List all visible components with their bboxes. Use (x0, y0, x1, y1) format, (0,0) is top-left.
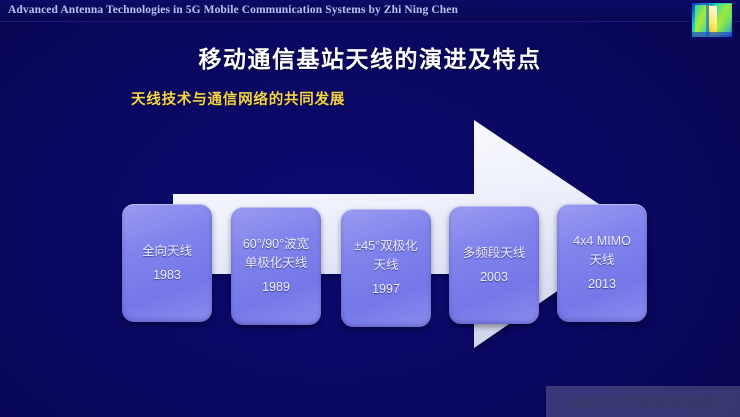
stage-year: 1997 (372, 280, 400, 299)
timeline-stage-1[interactable]: 全向天线 1983 (122, 204, 212, 322)
timeline-stage-4[interactable]: 多频段天线 2003 (449, 206, 539, 324)
stage-label-line: 天线 (373, 256, 398, 275)
stage-label-line: 天线 (589, 251, 614, 270)
timeline-stage-2[interactable]: 60°/90°波宽 单极化天线 1989 (231, 207, 321, 325)
stage-year: 1989 (262, 278, 290, 297)
stage-label-line: 多频段天线 (463, 244, 526, 263)
slide-canvas: Advanced Antenna Technologies in 5G Mobi… (0, 0, 740, 417)
page-subtitle: 天线技术与通信网络的共同发展 (131, 88, 345, 109)
stage-label-line: 全向天线 (142, 242, 192, 261)
stage-label-line: 4x4 MIMO (573, 232, 631, 251)
stage-label-line: 单极化天线 (245, 254, 308, 273)
presentation-title: Advanced Antenna Technologies in 5G Mobi… (8, 3, 458, 17)
stage-year: 2003 (480, 268, 508, 287)
timeline-stage-3[interactable]: ±45°双极化 天线 1997 (341, 209, 431, 327)
page-title: 移动通信基站天线的演进及特点 (0, 40, 740, 74)
header-bar: Advanced Antenna Technologies in 5G Mobi… (0, 0, 740, 22)
stage-year: 2013 (588, 275, 616, 294)
watermark-text: www.cntronics.com (569, 392, 718, 412)
em-simulation-thumbnail-icon (690, 2, 734, 40)
stage-label-line: 60°/90°波宽 (243, 235, 309, 254)
watermark: www.cntronics.com (546, 386, 740, 417)
timeline-stage-5[interactable]: 4x4 MIMO 天线 2013 (557, 204, 647, 322)
stage-label-line: ±45°双极化 (354, 237, 417, 256)
stage-year: 1983 (153, 266, 181, 285)
